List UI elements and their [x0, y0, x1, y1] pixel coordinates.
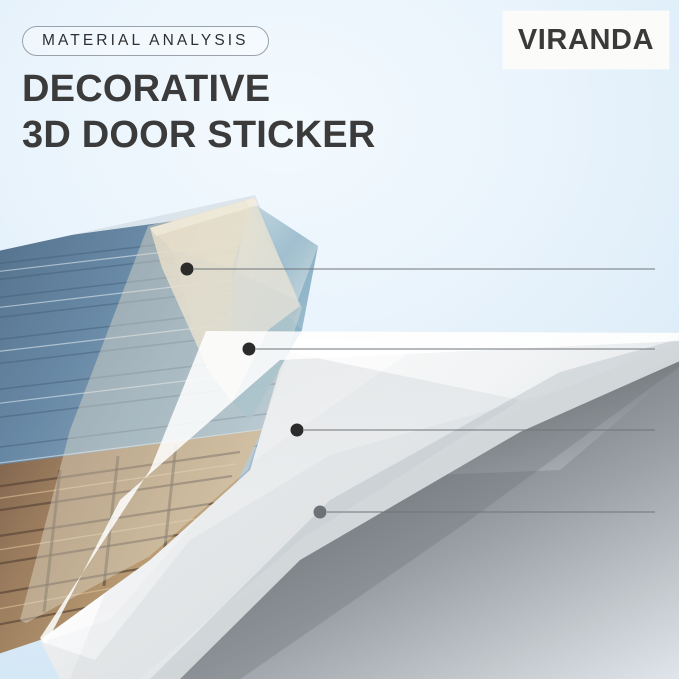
title-line-1: DECORATIVE — [22, 66, 375, 112]
callout-dot-4[interactable] — [314, 506, 327, 519]
callout-dot-1[interactable] — [181, 263, 194, 276]
badge-label: MATERIAL ANALYSIS — [42, 33, 249, 49]
header: MATERIAL ANALYSIS DECORATIVE 3D DOOR STI… — [0, 0, 679, 180]
callout-dot-2[interactable] — [243, 343, 256, 356]
material-analysis-infographic: MATERIAL ANALYSIS DECORATIVE 3D DOOR STI… — [0, 0, 679, 679]
material-analysis-badge: MATERIAL ANALYSIS — [22, 26, 269, 56]
title-line-2: 3D DOOR STICKER — [22, 112, 375, 158]
brand-name: VIRANDA — [518, 26, 654, 55]
page-title: DECORATIVE 3D DOOR STICKER — [22, 66, 375, 159]
callout-dot-3[interactable] — [291, 424, 304, 437]
brand-logo: VIRANDA — [503, 11, 669, 69]
